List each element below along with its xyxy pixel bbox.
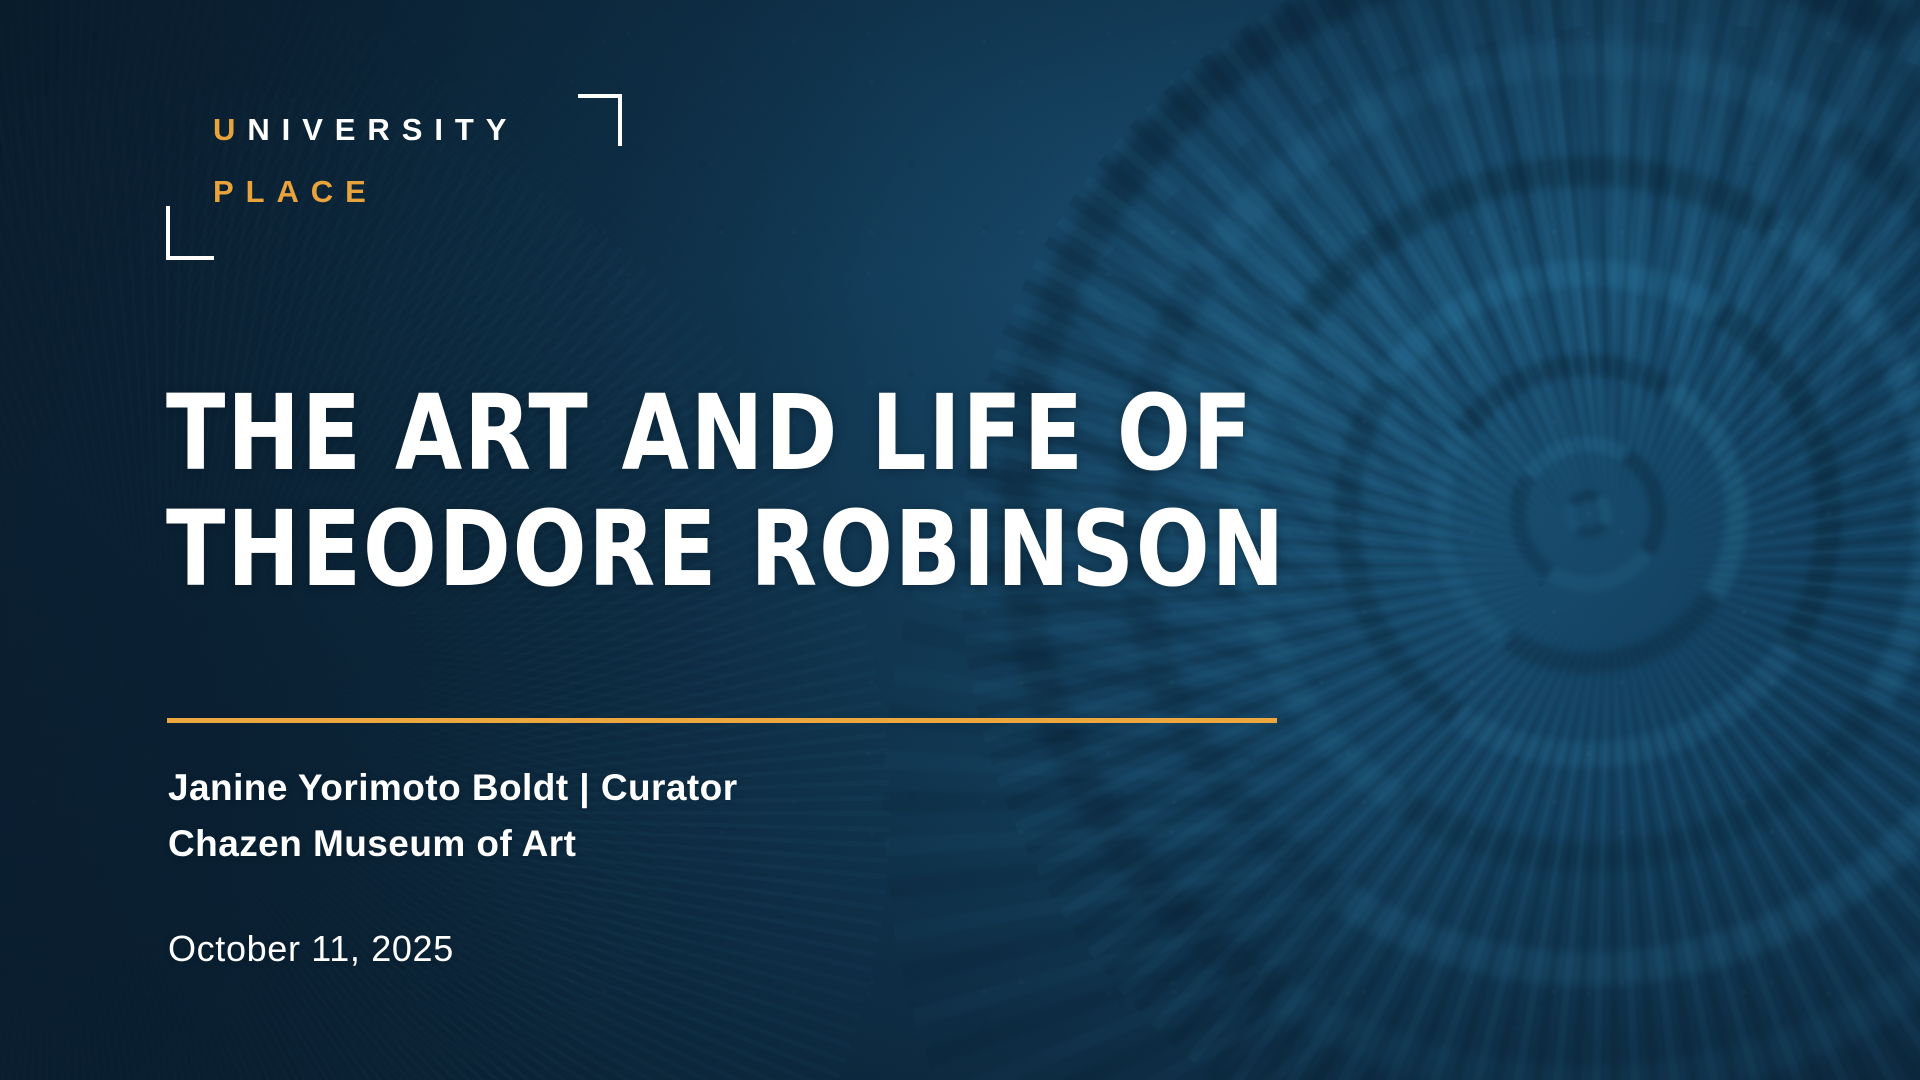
page-title: THE ART AND LIFE OF THEODORE ROBINSON <box>166 375 1468 608</box>
logo-accent-letter: U <box>213 112 247 147</box>
corner-bracket-bottom-left-icon <box>166 206 214 260</box>
corner-bracket-top-right-icon <box>578 94 622 146</box>
gold-divider-rule <box>167 718 1277 723</box>
presenter-organization: Chazen Museum of Art <box>168 816 738 872</box>
slide-content: UNIVERSITY PLACE THE ART AND LIFE OF THE… <box>0 0 1920 1080</box>
logo-university-rest: NIVERSITY <box>247 112 518 147</box>
title-line-1: THE ART AND LIFE OF <box>166 375 1468 491</box>
presenter-block: Janine Yorimoto Boldt | Curator Chazen M… <box>168 760 738 871</box>
title-line-2: THEODORE ROBINSON <box>166 491 1468 607</box>
presentation-date: October 11, 2025 <box>168 928 454 970</box>
logo-line-university: UNIVERSITY <box>213 112 518 148</box>
presenter-name-and-role: Janine Yorimoto Boldt | Curator <box>168 760 738 816</box>
title-slide: UNIVERSITY PLACE THE ART AND LIFE OF THE… <box>0 0 1920 1080</box>
university-place-logo: UNIVERSITY PLACE <box>168 96 620 256</box>
logo-line-place: PLACE <box>213 174 378 210</box>
